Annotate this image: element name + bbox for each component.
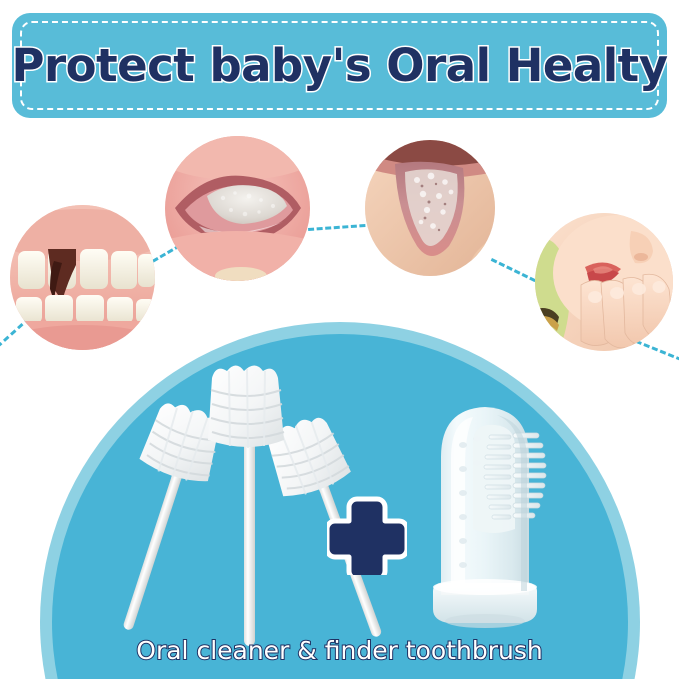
symptom-bubble-baby-hand-mouth [535, 213, 673, 351]
symptom-bubble-decayed-teeth [10, 205, 155, 350]
coated-tongue-illustration [165, 136, 310, 281]
page-title: Protect baby's Oral Healty [12, 13, 667, 118]
finger-toothbrush-illustration [415, 395, 585, 630]
decayed-teeth-illustration [10, 205, 155, 350]
plus-sign [327, 495, 407, 575]
swab-center [208, 366, 284, 647]
baby-hand-mouth-illustration [535, 213, 673, 351]
symptom-bubble-coated-tongue [165, 136, 310, 281]
plus-icon [327, 495, 407, 575]
header-banner: Protect baby's Oral Healty [12, 13, 667, 118]
tongue-thrush-illustration [365, 140, 495, 276]
product-caption: Oral cleaner & finder toothbrush [0, 636, 679, 665]
symptom-bubble-tongue-thrush [365, 140, 495, 276]
infographic-page: Protect baby's Oral Healty [0, 0, 679, 679]
